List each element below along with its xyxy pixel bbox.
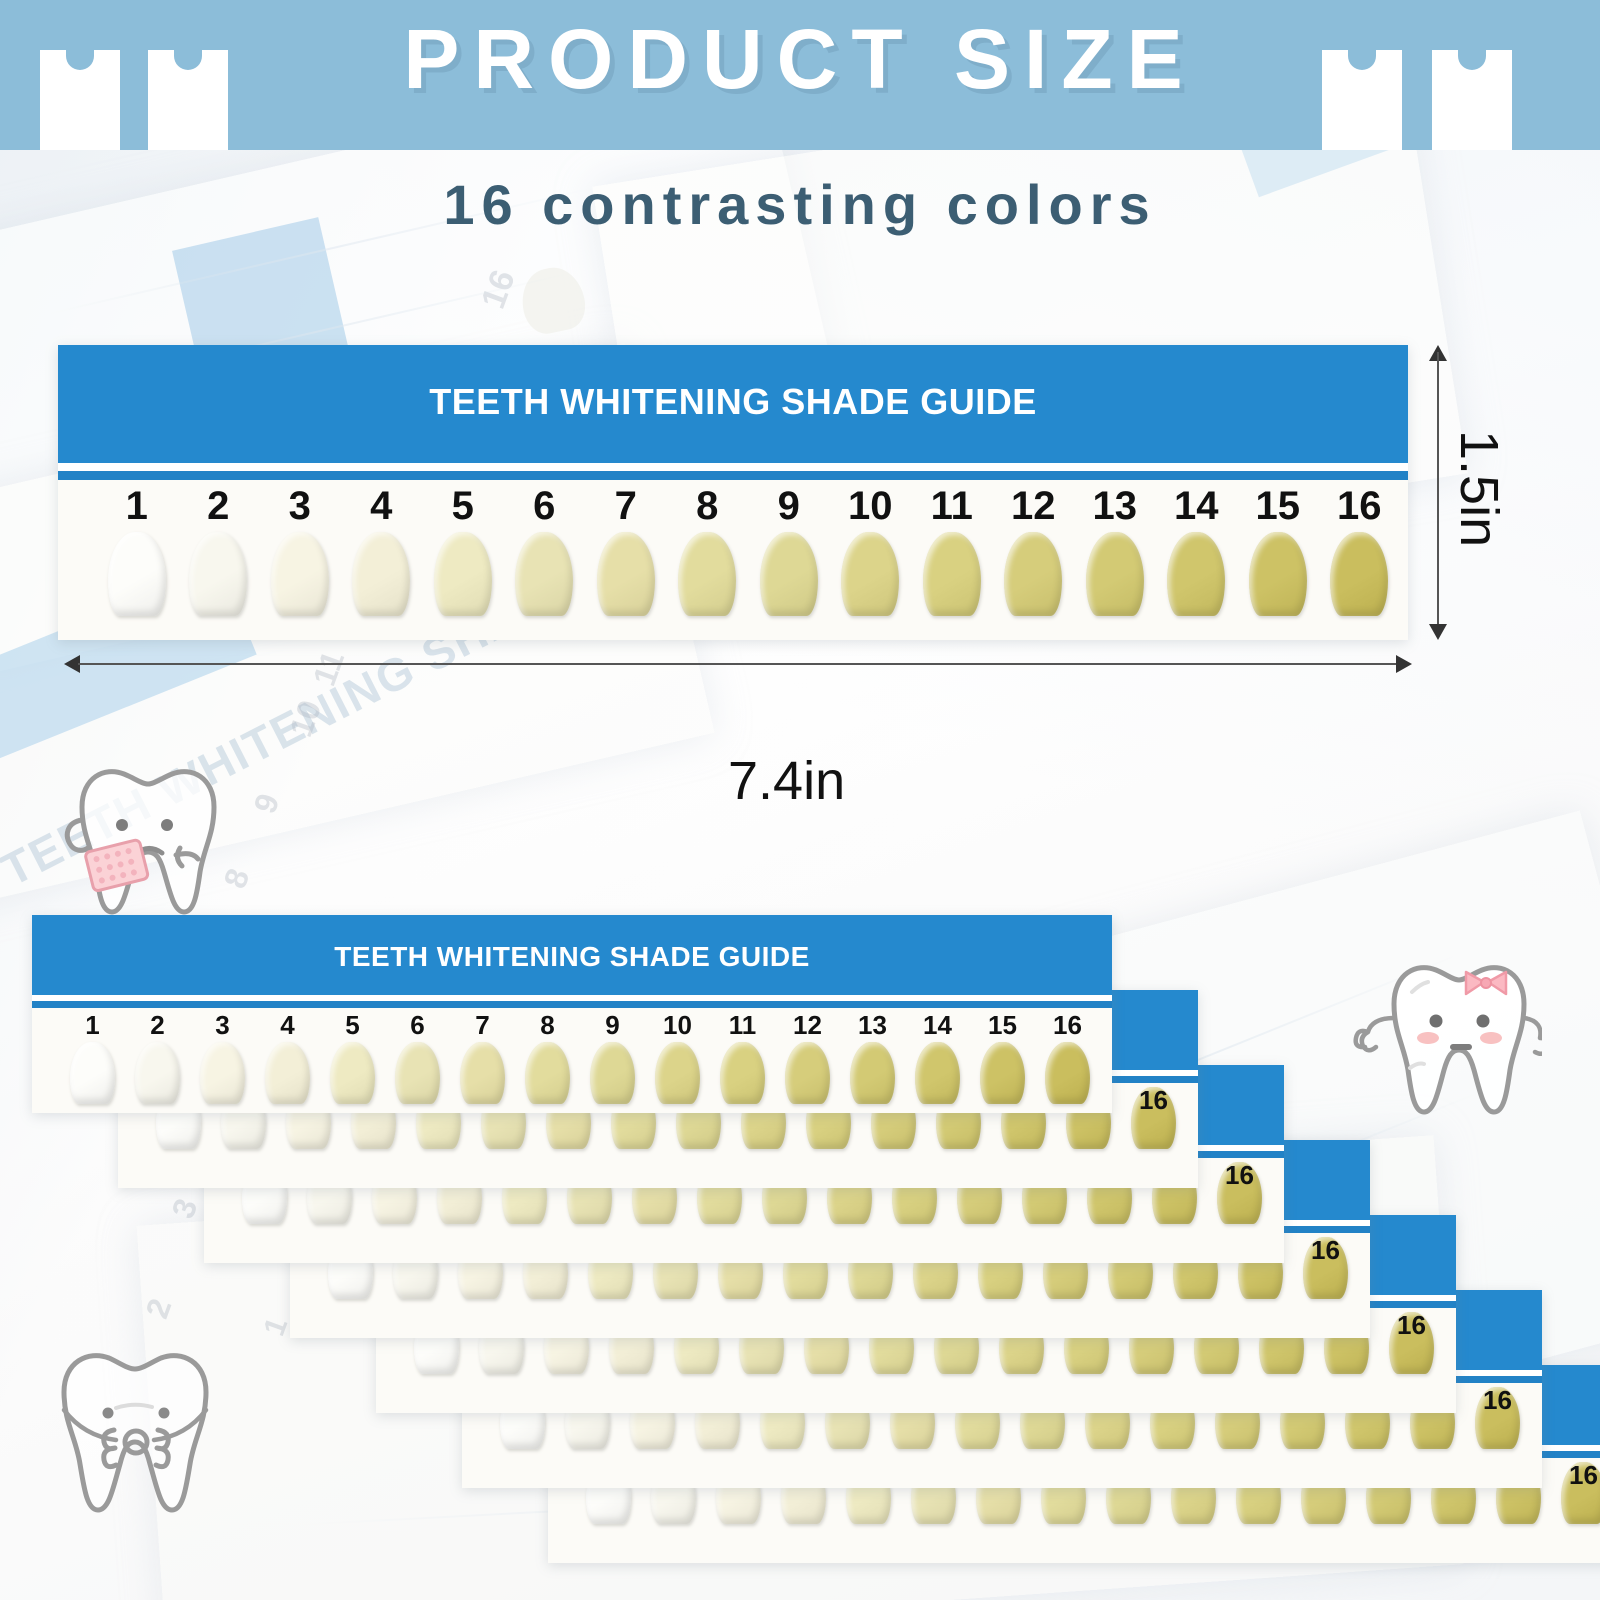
shade-tab-number: 3 [259,486,341,526]
shade-tab-number: 13 [1074,486,1156,526]
shade-tab-number: 6 [385,1012,450,1038]
shade-tab[interactable]: 4 [255,1008,320,1104]
shade-tab-number: 9 [748,486,830,526]
stacked-card-last-number: 16 [1121,1087,1186,1113]
shade-tab[interactable]: 1 [60,1008,125,1104]
shade-tab-tooth [189,532,247,616]
shade-tab[interactable]: 9 [580,1008,645,1104]
shade-tab[interactable]: 16 [1319,480,1401,616]
stacked-card-last-shade: 16 [1551,1458,1600,1488]
stacked-card-last-shade: 16 [1379,1308,1444,1338]
shade-tab-number: 7 [585,486,667,526]
shade-tab-number: 12 [775,1012,840,1038]
shade-tab[interactable]: 12 [993,480,1075,616]
shade-tab[interactable]: 10 [645,1008,710,1104]
shade-tab[interactable]: 12 [775,1008,840,1104]
shade-tab-tooth [460,1042,505,1104]
shade-tab-number: 11 [911,486,993,526]
card-header-gap [58,463,1408,471]
shade-tab-tooth [678,532,736,616]
shade-tab[interactable]: 13 [1074,480,1156,616]
shade-tab[interactable]: 1 [96,480,178,616]
card-header-rule [32,1001,1112,1008]
shade-tab-number: 1 [60,1012,125,1038]
shade-tab-tooth [515,532,573,616]
shade-guide-card-front[interactable]: TEETH WHITENING SHADE GUIDE1234567891011… [32,915,1112,1113]
shade-tab[interactable]: 10 [830,480,912,616]
tooth-with-bow-icon [1352,948,1542,1123]
shade-tab-tooth [330,1042,375,1104]
shade-tab-tooth [590,1042,635,1104]
dimension-line-vertical [1437,352,1439,634]
shade-tab[interactable]: 15 [970,1008,1035,1104]
shade-tab-tooth [980,1042,1025,1104]
sad-tooth-with-pill-pack-icon [52,752,232,922]
shade-tab-number: 4 [255,1012,320,1038]
shade-tab[interactable]: 3 [190,1008,255,1104]
card-header-title: TEETH WHITENING SHADE GUIDE [58,381,1408,423]
shade-tab-number: 5 [320,1012,385,1038]
stacked-card-last-shade: 16 [1293,1233,1358,1263]
shade-tab-number: 14 [1156,486,1238,526]
shade-tab-number: 15 [1237,486,1319,526]
shade-tab-number: 16 [1035,1012,1100,1038]
stacked-card-last-shade: 16 [1465,1383,1530,1413]
shade-tab-tooth [915,1042,960,1104]
shade-tab-number: 3 [190,1012,255,1038]
shade-tab-tooth [655,1042,700,1104]
shade-tab[interactable]: 8 [667,480,749,616]
shade-tab[interactable]: 2 [178,480,260,616]
shade-tab-number: 8 [515,1012,580,1038]
stacked-card-last-number: 16 [1293,1237,1358,1263]
shade-tab-tooth [1249,532,1307,616]
shade-tab-number: 5 [422,486,504,526]
shade-tab[interactable]: 7 [450,1008,515,1104]
header-banner: PRODUCT SIZE [0,0,1600,150]
shade-tab[interactable]: 4 [341,480,423,616]
shade-tab[interactable]: 5 [422,480,504,616]
dimension-line-horizontal [78,663,1398,665]
shade-tab-number: 13 [840,1012,905,1038]
shade-tab-tooth [395,1042,440,1104]
page-subtitle: 16 contrasting colors [0,172,1600,237]
shade-tab[interactable]: 11 [710,1008,775,1104]
shade-tab-tooth [108,532,166,616]
shade-tab-tooth [720,1042,765,1104]
shade-tab-tooth [1004,532,1062,616]
shade-tab-tooth [1045,1042,1090,1104]
shade-tab[interactable]: 11 [911,480,993,616]
card-header-title: TEETH WHITENING SHADE GUIDE [32,941,1112,973]
shade-tab[interactable]: 9 [748,480,830,616]
stacked-card-last-number: 16 [1551,1462,1600,1488]
shade-tab[interactable]: 2 [125,1008,190,1104]
shade-tab-tooth [271,532,329,616]
shade-tab-tooth [785,1042,830,1104]
dimension-height-label: 1.5in [1448,430,1510,547]
shade-tab[interactable]: 15 [1237,480,1319,616]
card-shade-row: 12345678910111213141516 [58,480,1408,640]
whistling-tooth-icon [42,1334,232,1514]
shade-tab-tooth [923,532,981,616]
shade-tab-tooth [597,532,655,616]
stacked-card-last-shade: 16 [1207,1158,1272,1188]
shade-tab-tooth [70,1042,115,1104]
stacked-card-last-number: 16 [1379,1312,1444,1338]
shade-tab-number: 9 [580,1012,645,1038]
shade-tab-tooth [841,532,899,616]
shade-tab[interactable]: 6 [385,1008,450,1104]
shade-tab-number: 12 [993,486,1075,526]
shade-tab[interactable]: 6 [504,480,586,616]
shade-tab-tooth [1086,532,1144,616]
shade-tab-tooth [1330,532,1388,616]
stacked-card-last-number: 16 [1207,1162,1272,1188]
shade-tab[interactable]: 14 [905,1008,970,1104]
shade-tab-tooth [1167,532,1225,616]
shade-tab[interactable]: 13 [840,1008,905,1104]
shade-tab-number: 2 [178,486,260,526]
shade-tab-tooth [135,1042,180,1104]
shade-tab-number: 2 [125,1012,190,1038]
shade-tab-number: 4 [341,486,423,526]
shade-tab-tooth [850,1042,895,1104]
stacked-card-last-shade: 16 [1121,1083,1186,1113]
shade-tab[interactable]: 3 [259,480,341,616]
shade-guide-card-main[interactable]: TEETH WHITENING SHADE GUIDE 123456789101… [58,345,1408,640]
shade-tab-number: 10 [645,1012,710,1038]
page-title: PRODUCT SIZE [0,12,1600,106]
shade-tab-number: 7 [450,1012,515,1038]
shade-tab-number: 10 [830,486,912,526]
shade-tab[interactable]: 7 [585,480,667,616]
shade-tab[interactable]: 8 [515,1008,580,1104]
shade-tab-tooth [760,532,818,616]
shade-tab-tooth [200,1042,245,1104]
shade-tab-number: 11 [710,1012,775,1038]
shade-tab[interactable]: 5 [320,1008,385,1104]
card-shade-row: 12345678910111213141516 [32,1008,1112,1113]
stacked-card-last-number: 16 [1465,1387,1530,1413]
shade-tab[interactable]: 16 [1035,1008,1100,1104]
shade-tab-number: 14 [905,1012,970,1038]
shade-tab-number: 6 [504,486,586,526]
shade-tab-number: 16 [1319,486,1401,526]
card-header: TEETH WHITENING SHADE GUIDE [32,915,1112,995]
shade-tab-number: 8 [667,486,749,526]
shade-tab-tooth [525,1042,570,1104]
dimension-arrow-right [1396,655,1412,673]
card-header: TEETH WHITENING SHADE GUIDE [58,345,1408,463]
shade-tab-number: 15 [970,1012,1035,1038]
dimension-width-label: 7.4in [728,750,845,812]
shade-tab-tooth [352,532,410,616]
shade-tab[interactable]: 14 [1156,480,1238,616]
card-header-rule [58,471,1408,480]
dimension-arrow-bottom [1429,624,1447,640]
shade-tab-tooth [265,1042,310,1104]
shade-tab-number: 1 [96,486,178,526]
shade-tab-tooth [434,532,492,616]
